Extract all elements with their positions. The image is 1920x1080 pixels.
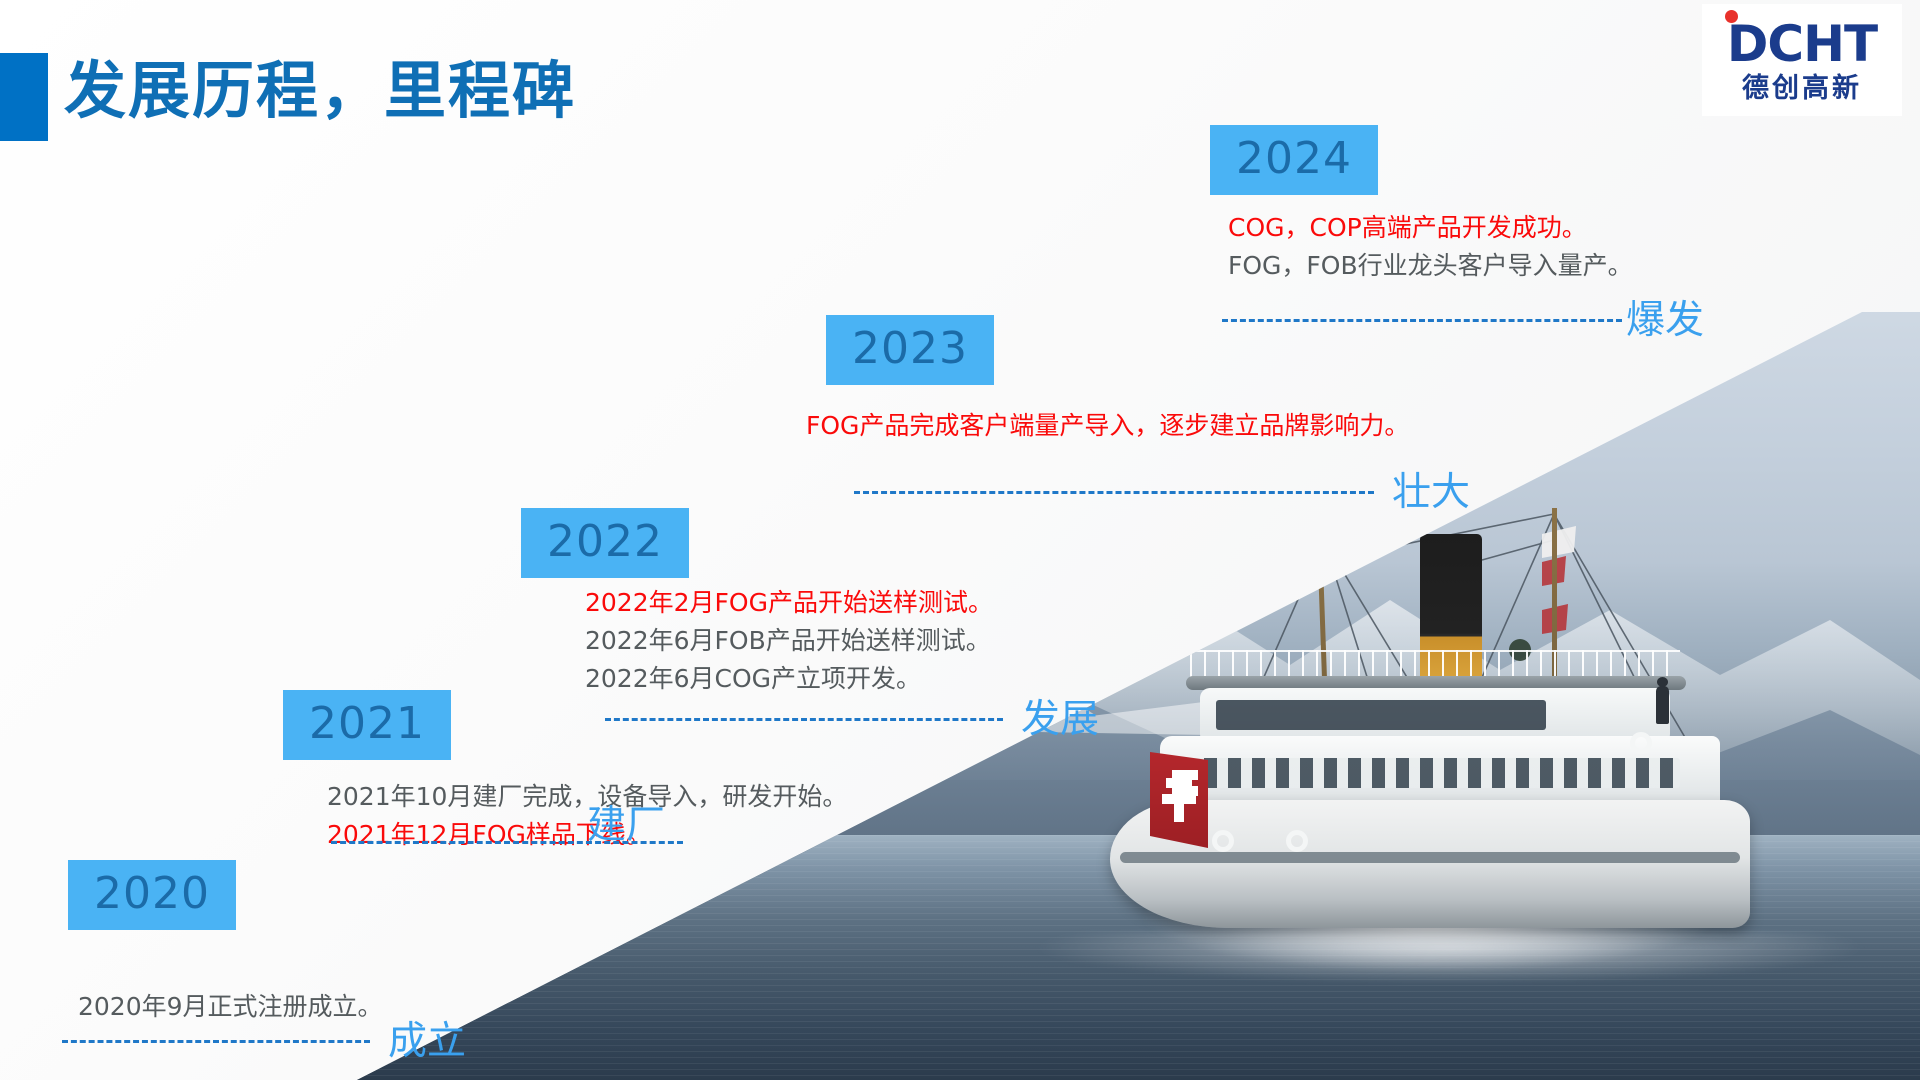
stage-label-2021: 建厂 [587, 806, 665, 845]
life-ring-icon [1286, 830, 1308, 852]
dashed-connector-line [854, 491, 1374, 494]
year-chip-2024[interactable]: 2024 [1210, 125, 1378, 195]
company-logo: DCHT 德创高新 [1702, 4, 1902, 116]
milestone-line: FOG产品完成客户端量产导入，逐步建立品牌影响力。 [806, 407, 1470, 445]
boat-crew-figure [1656, 686, 1669, 724]
stage-label-2024: 爆发 [1626, 301, 1704, 340]
swiss-flag-icon [1150, 752, 1208, 848]
logo-mark: DCHT [1727, 19, 1877, 69]
page-title: 发展历程，里程碑 [64, 40, 576, 130]
year-chip-2020[interactable]: 2020 [68, 860, 236, 930]
milestone-2020: 2020 2020年9月正式注册成立。 成立 [68, 860, 466, 1061]
milestone-2023: 2023 FOG产品完成客户端量产导入，逐步建立品牌影响力。 壮大 [826, 315, 1470, 512]
life-ring-icon [1212, 830, 1234, 852]
title-accent-bar [0, 53, 48, 141]
year-chip-2022[interactable]: 2022 [521, 508, 689, 578]
milestone-2023-connector: 壮大 [854, 473, 1470, 512]
logo-red-dot-icon [1725, 10, 1738, 23]
life-ring-icon [1630, 732, 1652, 754]
logo-mark-text: DCHT [1727, 15, 1877, 73]
boat-upper-deck-glass [1216, 700, 1546, 730]
milestone-2021: 2021 2021年10月建厂完成，设备导入，研发开始。 2021年12月FOG… [283, 690, 847, 845]
milestone-line: 2022年6月FOB产品开始送样测试。 [585, 622, 1099, 660]
milestone-line: FOG，FOB行业龙头客户导入量产。 [1228, 247, 1704, 285]
year-chip-2023[interactable]: 2023 [826, 315, 994, 385]
stage-label-2023: 壮大 [1392, 473, 1470, 512]
milestone-2022-lines: 2022年2月FOG产品开始送样测试。 2022年6月FOB产品开始送样测试。 … [585, 584, 1099, 698]
milestone-2023-lines: FOG产品完成客户端量产导入，逐步建立品牌影响力。 [806, 407, 1470, 445]
milestone-2024: 2024 COG，COP高端产品开发成功。 FOG，FOB行业龙头客户导入量产。… [1210, 125, 1704, 340]
dashed-connector-line [62, 1040, 370, 1043]
paddle-steamer-boat [1090, 500, 1790, 980]
stage-label-2022: 发展 [1021, 700, 1099, 739]
boat-hull-stripe [1120, 852, 1740, 863]
boat-cabin-windows [1180, 758, 1680, 788]
milestone-line: 2022年2月FOG产品开始送样测试。 [585, 584, 1099, 622]
stage-label-2020: 成立 [388, 1022, 466, 1061]
milestone-2020-connector: 成立 [62, 1022, 466, 1061]
flag-cross-horizontal [1162, 794, 1196, 804]
slide-canvas: 发展历程，里程碑 DCHT 德创高新 2024 COG，COP高端产品开发成功。… [0, 0, 1920, 1080]
milestone-2024-lines: COG，COP高端产品开发成功。 FOG，FOB行业龙头客户导入量产。 [1228, 209, 1704, 285]
year-chip-2021[interactable]: 2021 [283, 690, 451, 760]
logo-company-name: 德创高新 [1742, 75, 1862, 102]
milestone-line: COG，COP高端产品开发成功。 [1228, 209, 1704, 247]
